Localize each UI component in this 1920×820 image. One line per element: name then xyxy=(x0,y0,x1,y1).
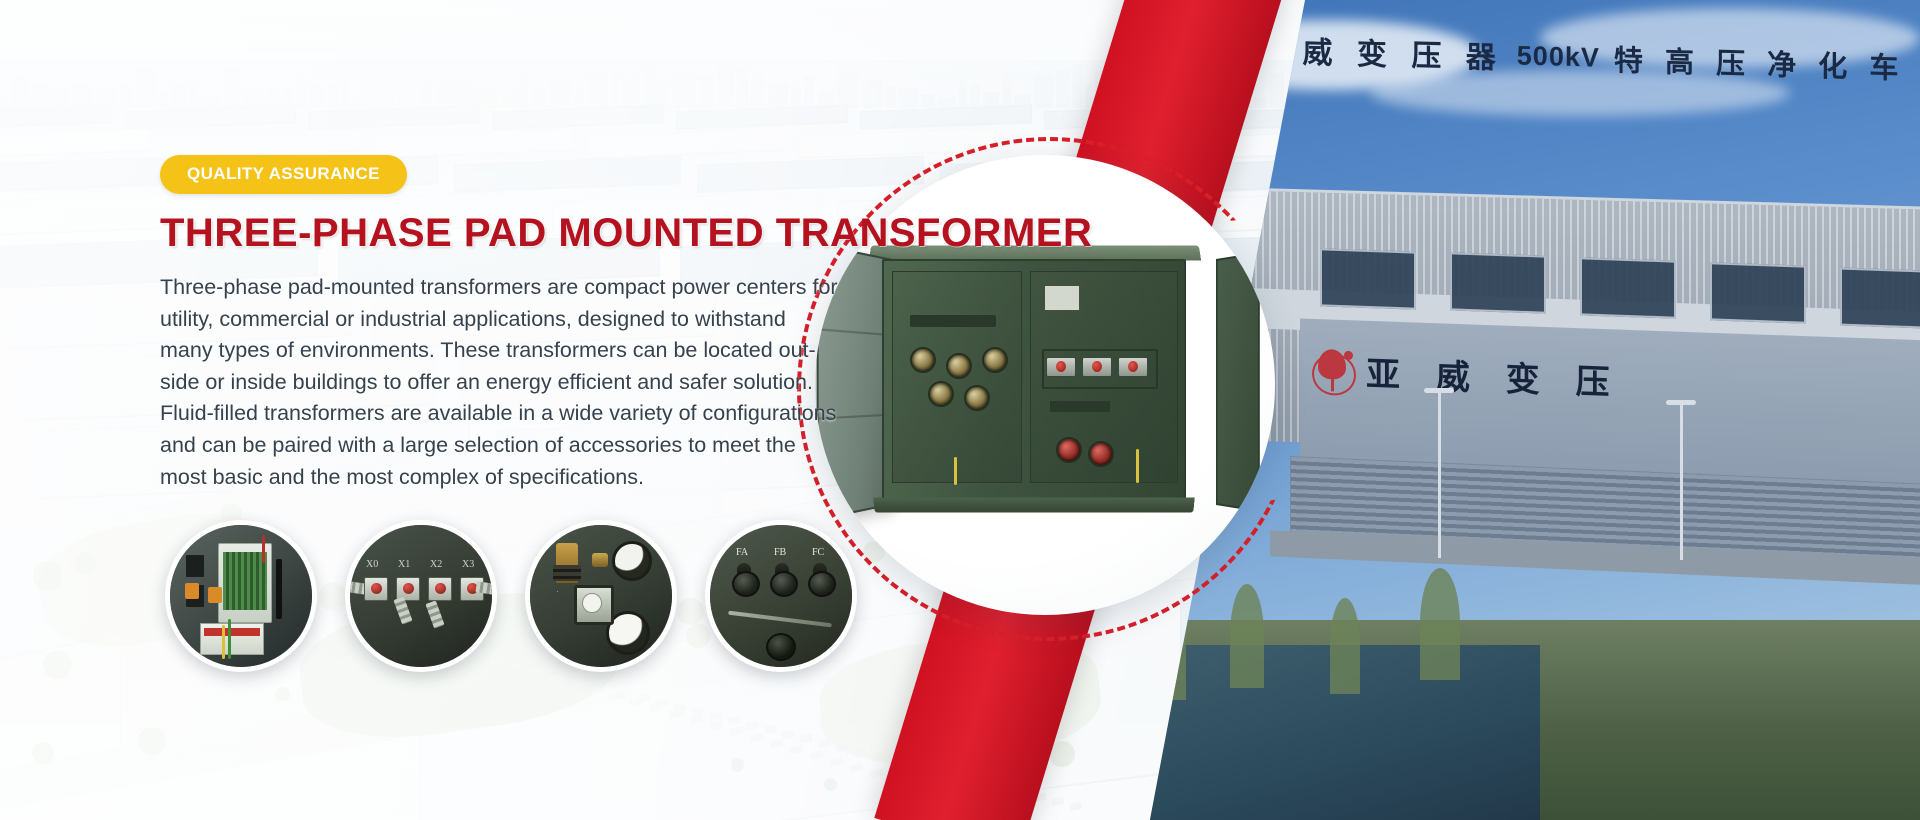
hv-bushing-well xyxy=(808,563,832,593)
hv-bushing-well xyxy=(770,563,794,593)
ground-cable xyxy=(954,457,957,485)
product-description-line: and can be paired with a large selection… xyxy=(160,430,920,462)
wire-harness xyxy=(276,559,282,619)
workshop-window xyxy=(1840,268,1920,329)
switch-bank-frame xyxy=(1042,349,1158,389)
instruction-plate xyxy=(1044,285,1080,311)
thumbnail-lv-bushings[interactable]: X0 X1 X2 X3 xyxy=(345,520,497,672)
lv-bushing-photo: X0 X1 X2 X3 xyxy=(350,525,492,667)
circuit-breaker xyxy=(200,623,264,655)
bushing xyxy=(964,385,990,411)
drain-valve-cap xyxy=(592,553,608,567)
terminal-label-x1: X1 xyxy=(398,559,410,570)
detail-thumbnail-strip: X0 X1 X2 X3 · xyxy=(165,520,857,672)
terminal-label-x2: X2 xyxy=(430,559,442,570)
gauge-mark: · xyxy=(556,587,559,596)
spade-connector xyxy=(425,600,444,628)
thumbnail-hv-bushings[interactable]: FA FB FC xyxy=(705,520,857,672)
banner-text-block: QUALITY ASSURANCE THREE-PHASE PAD MOUNTE… xyxy=(160,155,950,493)
terminal-label-x3: X3 xyxy=(462,559,474,570)
gauges-photo: · xyxy=(530,525,672,667)
relay xyxy=(186,555,204,577)
street-lamp xyxy=(1438,388,1441,558)
transformer-base-pad xyxy=(873,497,1195,512)
street-lamp xyxy=(1680,400,1683,560)
yawei-globe-logo-icon xyxy=(1310,346,1354,394)
reeds xyxy=(1330,598,1360,694)
terminal-label-fb: FB xyxy=(774,547,786,558)
product-description-line: many types of environments. These transf… xyxy=(160,335,920,367)
product-hero-banner: 亚 威 变 压 器 500kV 特 高 压 净 化 车 间 亚 威 变 压 xyxy=(0,0,1920,820)
product-description-line: side or inside buildings to offer an ene… xyxy=(160,367,920,399)
quality-assurance-badge: QUALITY ASSURANCE xyxy=(160,155,407,194)
hv-bushing-well xyxy=(766,633,796,661)
pressure-relief-valve xyxy=(556,543,578,583)
door-seam xyxy=(728,611,832,628)
workshop-window xyxy=(1320,248,1416,309)
hv-bushing-photo: FA FB FC xyxy=(710,525,852,667)
lv-terminal xyxy=(1056,437,1082,463)
workshop-window xyxy=(1580,257,1676,318)
workshop-window xyxy=(1710,262,1806,323)
label-strip xyxy=(1050,401,1110,412)
lv-terminal xyxy=(364,577,388,601)
bushing xyxy=(982,347,1008,373)
product-description-line: most basic and the most complex of speci… xyxy=(160,462,920,494)
product-description-line: Fluid-filled transformers are available … xyxy=(160,398,920,430)
ground-cable xyxy=(1136,449,1139,483)
product-description-line: utility, commercial or industrial applic… xyxy=(160,304,920,336)
wire-red xyxy=(262,535,265,563)
transformer-right-door xyxy=(1216,252,1260,512)
signage-voltage: 500kV xyxy=(1517,40,1600,73)
wire-yellow xyxy=(222,625,225,659)
terminal-label-x0: X0 xyxy=(366,559,378,570)
thermometer-gauge xyxy=(612,541,652,581)
fuse-holder xyxy=(185,583,199,599)
reeds xyxy=(1420,568,1460,680)
product-description-line: Three-phase pad-mounted transformers are… xyxy=(160,272,920,304)
page-title: THREE-PHASE PAD MOUNTED TRANSFORMER xyxy=(160,212,950,254)
terminal-label-fc: FC xyxy=(812,547,824,558)
terminal-label-fa: FA xyxy=(736,547,748,558)
thumbnail-control-cabinet[interactable] xyxy=(165,520,317,672)
liquid-level-indicator xyxy=(574,585,614,625)
lv-terminal xyxy=(428,577,452,601)
thumbnail-gauges[interactable]: · xyxy=(525,520,677,672)
wire-green xyxy=(228,619,231,659)
lv-terminal xyxy=(1088,441,1114,467)
product-description: Three-phase pad-mounted transformers are… xyxy=(160,272,920,493)
fuse-holder xyxy=(208,587,222,603)
reeds xyxy=(1230,584,1264,688)
workshop-window xyxy=(1450,252,1546,313)
hv-bushing-well xyxy=(732,563,756,593)
control-cabinet-photo xyxy=(170,525,312,667)
signage-company-name-lower: 亚 威 变 压 xyxy=(1366,347,1622,405)
signage-workshop-type: 特 高 压 净 化 车 间 xyxy=(1614,37,1920,89)
